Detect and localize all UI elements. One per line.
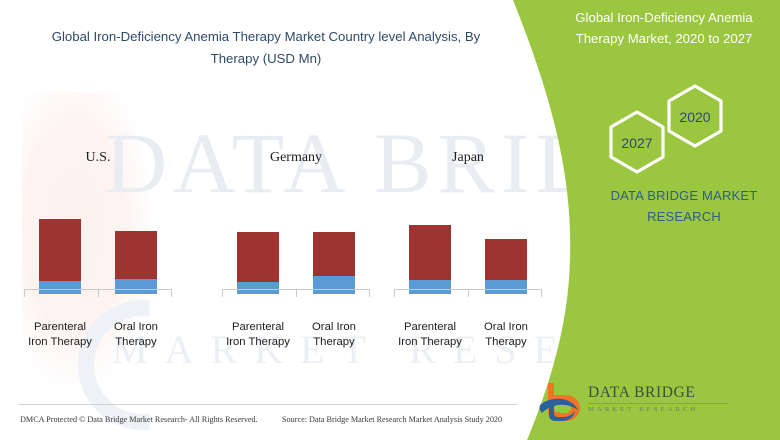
- chart-group-us: U.S. Parenteral Iron Therapy Oral Iron T…: [22, 150, 174, 350]
- group-title: Germany: [220, 150, 372, 166]
- group-title: Japan: [392, 150, 544, 166]
- footer-divider: [18, 404, 518, 405]
- logo-text: DATA BRIDGE MARKET RESEARCH: [588, 384, 728, 413]
- bar-segment-2027: [39, 219, 81, 281]
- group-category-labels: Parenteral Iron Therapy Oral Iron Therap…: [392, 320, 544, 351]
- group-bars: [220, 204, 372, 294]
- bar-chart: U.S. Parenteral Iron Therapy Oral Iron T…: [0, 150, 520, 350]
- bar-parenteral-iron-therapy[interactable]: [39, 219, 81, 294]
- logo-main-text: DATA BRIDGE: [588, 384, 728, 401]
- group-bars: [22, 204, 174, 294]
- category-label: Oral Iron Therapy: [99, 320, 173, 351]
- panel-title: Global Iron-Deficiency Anemia Therapy Ma…: [556, 8, 772, 50]
- page-title: Global Iron-Deficiency Anemia Therapy Ma…: [36, 26, 496, 70]
- category-label: Parenteral Iron Therapy: [23, 320, 97, 351]
- footer-copyright: DMCA Protected © Data Bridge Market Rese…: [20, 415, 258, 424]
- category-label: Oral Iron Therapy: [469, 320, 543, 351]
- group-axis: [24, 289, 172, 296]
- footer-source: Source: Data Bridge Market Research Mark…: [282, 415, 502, 424]
- hexagon-group: 2020 2027: [590, 84, 740, 176]
- hexagon-2027-label: 2027: [621, 135, 652, 151]
- logo-mark-icon: [538, 381, 582, 423]
- group-axis: [222, 289, 370, 296]
- infographic-canvas: DATA BRIDGE MARKET RESEARCH Global Iron-…: [0, 0, 780, 440]
- group-bars: [392, 204, 544, 294]
- bar-segment-2027: [115, 231, 157, 279]
- category-label: Oral Iron Therapy: [297, 320, 371, 351]
- bar-segment-2027: [237, 232, 279, 282]
- chart-group-germany: Germany Parenteral Iron Therapy Oral Iro…: [220, 150, 372, 350]
- bar-segment-2027: [485, 239, 527, 280]
- group-category-labels: Parenteral Iron Therapy Oral Iron Therap…: [22, 320, 174, 351]
- category-label: Parenteral Iron Therapy: [221, 320, 295, 351]
- bar-parenteral-iron-therapy[interactable]: [237, 232, 279, 294]
- bar-segment-2027: [313, 232, 355, 276]
- group-axis: [394, 289, 542, 296]
- chart-group-japan: Japan Parenteral Iron Therapy Oral Iron …: [392, 150, 544, 350]
- bar-segment-2027: [409, 225, 451, 280]
- bar-parenteral-iron-therapy[interactable]: [409, 225, 451, 294]
- bar-oral-iron-therapy[interactable]: [313, 232, 355, 294]
- category-label: Parenteral Iron Therapy: [393, 320, 467, 351]
- bar-oral-iron-therapy[interactable]: [485, 239, 527, 294]
- data-bridge-logo: DATA BRIDGE MARKET RESEARCH: [538, 381, 728, 423]
- logo-sub-text: MARKET RESEARCH: [588, 403, 728, 413]
- group-category-labels: Parenteral Iron Therapy Oral Iron Therap…: [220, 320, 372, 351]
- bar-oral-iron-therapy[interactable]: [115, 231, 157, 294]
- group-title: U.S.: [22, 150, 174, 166]
- hexagon-2020-label: 2020: [679, 109, 710, 125]
- panel-brand-text: DATA BRIDGE MARKET RESEARCH: [586, 186, 780, 228]
